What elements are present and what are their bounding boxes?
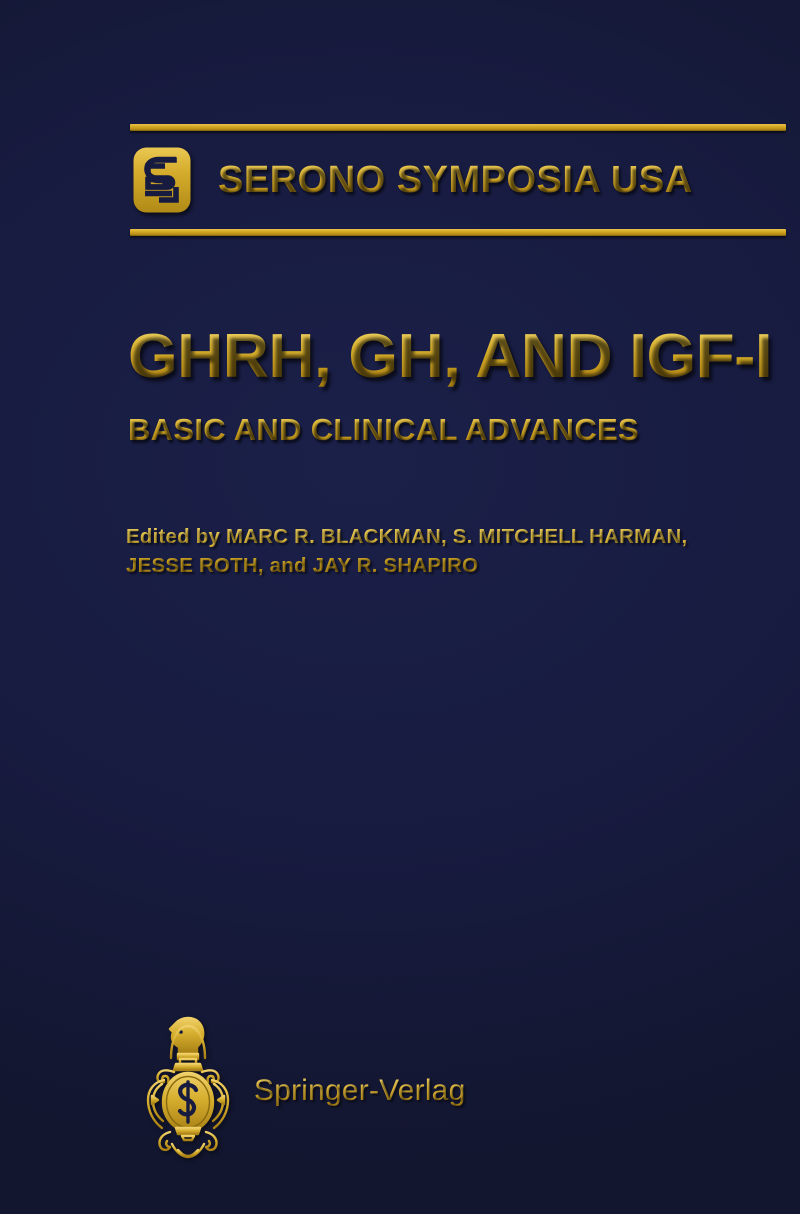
series-rule-top xyxy=(130,124,786,131)
springer-knight-crest-logo xyxy=(138,1012,240,1164)
series-band: SERONO SYMPOSIA USA xyxy=(130,124,786,236)
page-subtitle: BASIC AND CLINICAL ADVANCES xyxy=(128,412,793,448)
page-title: GHRH, GH, AND IGF-I xyxy=(128,326,800,388)
editors-credit: Edited by MARC R. BLACKMAN, S. MITCHELL … xyxy=(126,522,800,580)
publisher-imprint: Springer-Verlag xyxy=(138,1012,465,1164)
series-name: SERONO SYMPOSIA USA xyxy=(218,159,693,202)
editors-line-2: JESSE ROTH, and JAY R. SHAPIRO xyxy=(126,551,800,580)
publisher-name: Springer-Verlag xyxy=(254,1074,465,1108)
title-block: GHRH, GH, AND IGF-I BASIC AND CLINICAL A… xyxy=(128,326,793,448)
serono-interlocking-s-logo xyxy=(132,146,192,214)
editors-line-1: Edited by MARC R. BLACKMAN, S. MITCHELL … xyxy=(126,522,800,551)
series-rule-bottom xyxy=(130,229,786,236)
series-logo-row: SERONO SYMPOSIA USA xyxy=(130,131,786,229)
book-cover: SERONO SYMPOSIA USA GHRH, GH, AND IGF-I … xyxy=(0,0,800,1214)
